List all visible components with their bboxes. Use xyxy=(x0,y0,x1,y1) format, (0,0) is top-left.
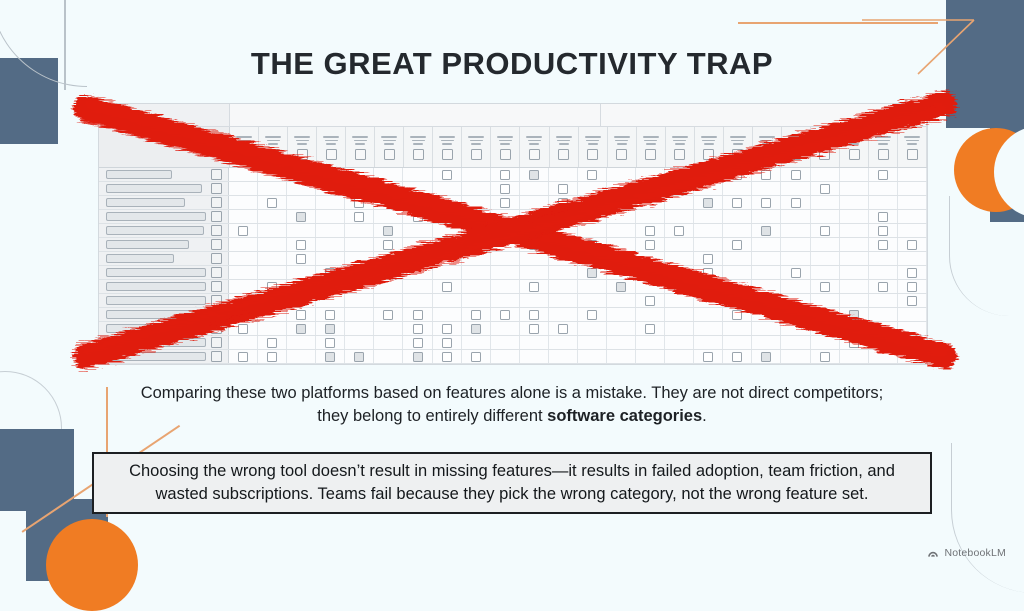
table-row xyxy=(99,168,927,182)
cell-checkbox xyxy=(238,310,248,320)
cell-checkbox xyxy=(558,212,568,222)
column-header-icon xyxy=(703,149,714,160)
table-cell xyxy=(229,350,258,363)
table-cell xyxy=(491,182,520,195)
table-cell xyxy=(520,280,549,293)
cell-checkbox xyxy=(529,282,539,292)
cell-checkbox xyxy=(442,352,452,362)
column-header-icon xyxy=(529,149,540,160)
table-cell xyxy=(752,182,781,195)
table-cell xyxy=(781,210,810,223)
table-group-cell xyxy=(601,104,927,126)
table-cell xyxy=(869,350,898,363)
table-cell xyxy=(781,238,810,251)
table-cell xyxy=(723,210,752,223)
column-header-icon xyxy=(384,149,395,160)
table-cell xyxy=(433,322,462,335)
cell-checkbox xyxy=(383,240,393,250)
table-cell xyxy=(491,210,520,223)
table-cell xyxy=(869,210,898,223)
row-label-placeholder xyxy=(106,310,205,319)
cell-checkbox xyxy=(238,352,248,362)
table-cell xyxy=(258,168,287,181)
row-label-cell xyxy=(99,182,229,195)
table-cell xyxy=(578,322,607,335)
column-header-icon xyxy=(268,149,279,160)
table-cell xyxy=(723,294,752,307)
table-cell xyxy=(840,294,869,307)
table-cell xyxy=(607,280,636,293)
table-cell xyxy=(287,350,316,363)
table-cell xyxy=(229,210,258,223)
cell-checkbox xyxy=(732,352,742,362)
row-label-placeholder xyxy=(106,296,206,305)
table-column-header xyxy=(317,127,346,167)
table-cell xyxy=(258,210,287,223)
table-cell xyxy=(229,224,258,237)
cell-checkbox xyxy=(471,324,481,334)
table-cell xyxy=(374,196,403,209)
table-cell xyxy=(433,182,462,195)
table-cell xyxy=(345,350,374,363)
cell-checkbox xyxy=(296,310,306,320)
row-label-icon xyxy=(211,211,222,222)
table-group-cell xyxy=(230,104,601,126)
table-cell xyxy=(723,350,752,363)
row-label-cell xyxy=(99,266,229,279)
table-cell xyxy=(316,238,345,251)
cell-checkbox xyxy=(703,268,713,278)
table-cell xyxy=(665,224,694,237)
cell-checkbox xyxy=(645,240,655,250)
table-column-header xyxy=(753,127,782,167)
table-header-corner-cell xyxy=(99,127,230,167)
cell-checkbox xyxy=(878,212,888,222)
table-cell xyxy=(462,210,491,223)
cell-checkbox xyxy=(703,254,713,264)
decor-bottom-right-curve xyxy=(951,443,1024,593)
cell-checkbox xyxy=(791,268,801,278)
row-label-icon xyxy=(211,295,222,306)
row-label-cell xyxy=(99,322,229,335)
table-cell xyxy=(636,336,665,349)
row-label-icon xyxy=(211,267,222,278)
table-cell xyxy=(258,196,287,209)
table-column-header xyxy=(724,127,753,167)
cell-checkbox xyxy=(703,170,713,180)
row-label-cell xyxy=(99,294,229,307)
table-cell xyxy=(752,252,781,265)
row-label-cell xyxy=(99,224,229,237)
table-cell xyxy=(752,266,781,279)
table-cell xyxy=(781,224,810,237)
table-cell xyxy=(840,224,869,237)
table-cell xyxy=(462,168,491,181)
table-cell xyxy=(723,238,752,251)
cell-checkbox xyxy=(529,310,539,320)
table-cell xyxy=(316,308,345,321)
cell-checkbox xyxy=(383,310,393,320)
paragraph-text-2: . xyxy=(702,407,707,425)
row-label-icon xyxy=(211,337,222,348)
table-cell xyxy=(578,294,607,307)
cell-checkbox xyxy=(761,198,771,208)
table-row xyxy=(99,308,927,322)
table-cell xyxy=(374,322,403,335)
table-cell xyxy=(374,182,403,195)
table-cell xyxy=(578,266,607,279)
table-column-header xyxy=(811,127,840,167)
row-label-icon xyxy=(211,183,222,194)
table-cell xyxy=(549,210,578,223)
table-cell xyxy=(752,238,781,251)
cell-checkbox xyxy=(442,282,452,292)
table-cell xyxy=(520,294,549,307)
table-cell xyxy=(665,350,694,363)
table-cell xyxy=(723,168,752,181)
table-cell xyxy=(374,280,403,293)
table-cell xyxy=(403,308,432,321)
table-cell xyxy=(374,294,403,307)
table-cell xyxy=(403,182,432,195)
table-column-header xyxy=(782,127,811,167)
table-cell xyxy=(316,196,345,209)
table-cell xyxy=(781,294,810,307)
cell-checkbox xyxy=(849,310,859,320)
table-column-header xyxy=(579,127,608,167)
column-header-icon xyxy=(442,149,453,160)
row-label-icon xyxy=(211,197,222,208)
row-label-cell xyxy=(99,308,229,321)
table-cell xyxy=(811,210,840,223)
table-cell xyxy=(258,182,287,195)
table-cell xyxy=(665,336,694,349)
table-column-header xyxy=(666,127,695,167)
table-cell xyxy=(781,350,810,363)
column-header-icon xyxy=(239,149,250,160)
row-label-placeholder xyxy=(106,226,204,235)
cell-checkbox xyxy=(820,352,830,362)
cell-checkbox xyxy=(907,268,917,278)
table-cell xyxy=(694,350,723,363)
table-cell xyxy=(811,224,840,237)
table-cell xyxy=(403,266,432,279)
table-cell xyxy=(636,196,665,209)
table-cell xyxy=(229,168,258,181)
cell-checkbox xyxy=(761,352,771,362)
table-cell xyxy=(520,350,549,363)
row-label-icon xyxy=(211,253,222,264)
table-cell xyxy=(636,350,665,363)
table-cell xyxy=(694,238,723,251)
table-column-header xyxy=(637,127,666,167)
table-column-header xyxy=(869,127,898,167)
table-cell xyxy=(229,280,258,293)
table-cell xyxy=(665,238,694,251)
column-header-icon xyxy=(878,149,889,160)
table-cell xyxy=(636,210,665,223)
table-cell xyxy=(374,308,403,321)
cell-checkbox xyxy=(471,352,481,362)
table-cell xyxy=(578,350,607,363)
table-cell xyxy=(723,252,752,265)
row-label-placeholder xyxy=(106,198,185,207)
row-label-cell xyxy=(99,350,229,363)
table-cell xyxy=(258,238,287,251)
table-cell xyxy=(345,252,374,265)
table-cell xyxy=(520,322,549,335)
table-cell xyxy=(869,308,898,321)
table-column-header xyxy=(259,127,288,167)
cell-checkbox xyxy=(238,226,248,236)
table-cell xyxy=(840,196,869,209)
table-cell xyxy=(636,266,665,279)
table-row xyxy=(99,280,927,294)
table-cell xyxy=(462,350,491,363)
table-cell xyxy=(462,280,491,293)
cell-checkbox xyxy=(558,324,568,334)
cell-checkbox xyxy=(907,282,917,292)
table-cell xyxy=(781,168,810,181)
table-cell xyxy=(374,168,403,181)
table-cell xyxy=(462,182,491,195)
row-label-cell xyxy=(99,252,229,265)
table-cell xyxy=(229,322,258,335)
table-cell xyxy=(607,224,636,237)
cell-checkbox xyxy=(645,324,655,334)
cell-checkbox xyxy=(529,170,539,180)
table-cell xyxy=(287,322,316,335)
table-cell xyxy=(869,168,898,181)
table-cell xyxy=(665,322,694,335)
table-cell xyxy=(578,168,607,181)
table-cell xyxy=(811,168,840,181)
table-cell xyxy=(433,196,462,209)
table-cell xyxy=(520,238,549,251)
table-cell xyxy=(345,266,374,279)
table-cell xyxy=(578,224,607,237)
table-cell xyxy=(869,280,898,293)
table-cell xyxy=(578,238,607,251)
table-cell xyxy=(811,252,840,265)
table-cell xyxy=(287,308,316,321)
cell-checkbox xyxy=(500,184,510,194)
table-cell xyxy=(287,210,316,223)
row-label-cell xyxy=(99,168,229,181)
cell-checkbox xyxy=(732,296,742,306)
table-cell xyxy=(636,322,665,335)
table-cell xyxy=(665,182,694,195)
table-cell xyxy=(316,168,345,181)
table-cell xyxy=(578,336,607,349)
table-cell xyxy=(462,322,491,335)
table-cell xyxy=(840,266,869,279)
table-cell xyxy=(462,196,491,209)
column-header-icon xyxy=(587,149,598,160)
cell-checkbox xyxy=(500,198,510,208)
table-row xyxy=(99,224,927,238)
row-label-cell xyxy=(99,336,229,349)
cell-checkbox xyxy=(267,198,277,208)
table-cell xyxy=(694,308,723,321)
cell-checkbox xyxy=(703,352,713,362)
table-cell xyxy=(636,280,665,293)
table-column-header xyxy=(520,127,549,167)
watermark: NotebookLM xyxy=(927,547,1006,559)
table-cell xyxy=(665,196,694,209)
table-cell xyxy=(578,308,607,321)
column-header-icon xyxy=(819,149,830,160)
table-cell xyxy=(636,308,665,321)
decor-bottom-left-rectangle xyxy=(0,429,74,511)
table-cell xyxy=(287,252,316,265)
table-cell xyxy=(811,294,840,307)
cell-checkbox xyxy=(645,296,655,306)
table-cell xyxy=(287,224,316,237)
table-row xyxy=(99,266,927,280)
table-cell xyxy=(491,196,520,209)
table-cell xyxy=(898,266,927,279)
table-cell xyxy=(229,182,258,195)
table-cell xyxy=(840,308,869,321)
column-header-icon xyxy=(326,149,337,160)
table-cell xyxy=(374,224,403,237)
cell-checkbox xyxy=(558,184,568,194)
cell-checkbox xyxy=(471,310,481,320)
table-row xyxy=(99,182,927,196)
cell-checkbox xyxy=(500,170,510,180)
cell-checkbox xyxy=(674,184,684,194)
cell-checkbox xyxy=(442,324,452,334)
cell-checkbox xyxy=(820,226,830,236)
table-cell xyxy=(607,322,636,335)
table-cell xyxy=(549,294,578,307)
table-cell xyxy=(433,350,462,363)
table-cell xyxy=(345,168,374,181)
table-cell xyxy=(811,336,840,349)
table-cell xyxy=(462,294,491,307)
column-header-icon xyxy=(849,149,860,160)
row-label-icon xyxy=(211,309,222,320)
cell-checkbox xyxy=(907,240,917,250)
table-cell xyxy=(694,294,723,307)
table-cell xyxy=(549,336,578,349)
table-cell xyxy=(723,224,752,237)
decor-top-right-circle-mask xyxy=(994,126,1024,218)
table-cell xyxy=(636,224,665,237)
table-cell xyxy=(694,336,723,349)
table-cell xyxy=(374,210,403,223)
decor-top-right-line xyxy=(738,22,938,24)
table-cell xyxy=(811,308,840,321)
table-group-cell xyxy=(99,104,230,126)
table-cell xyxy=(723,322,752,335)
cell-checkbox xyxy=(674,226,684,236)
table-cell xyxy=(491,252,520,265)
table-cell xyxy=(316,280,345,293)
table-cell xyxy=(520,196,549,209)
table-cell xyxy=(840,182,869,195)
table-cell xyxy=(898,238,927,251)
cell-checkbox xyxy=(587,170,597,180)
table-column-header xyxy=(462,127,491,167)
table-cell xyxy=(345,294,374,307)
decor-bottom-left-circle-outline xyxy=(0,371,62,485)
cell-checkbox xyxy=(849,324,859,334)
column-header-icon xyxy=(471,149,482,160)
table-cell xyxy=(694,168,723,181)
table-row xyxy=(99,210,927,224)
table-cell xyxy=(665,168,694,181)
cell-checkbox xyxy=(238,324,248,334)
table-cell xyxy=(752,196,781,209)
table-row xyxy=(99,322,927,336)
table-cell xyxy=(374,266,403,279)
table-cell xyxy=(374,252,403,265)
column-header-icon xyxy=(500,149,511,160)
table-cell xyxy=(607,182,636,195)
table-cell xyxy=(316,294,345,307)
table-cell xyxy=(374,238,403,251)
table-cell xyxy=(869,182,898,195)
row-label-icon xyxy=(211,351,222,362)
cell-checkbox xyxy=(907,296,917,306)
table-cell xyxy=(520,182,549,195)
cell-checkbox xyxy=(529,212,539,222)
table-cell xyxy=(898,336,927,349)
table-cell xyxy=(403,280,432,293)
table-cell xyxy=(665,266,694,279)
decor-top-right-curve xyxy=(949,196,1010,316)
paragraph-emphasis: software categories xyxy=(547,407,702,425)
cell-checkbox xyxy=(267,338,277,348)
table-cell xyxy=(898,322,927,335)
table-cell xyxy=(287,238,316,251)
table-cell xyxy=(491,168,520,181)
table-cell xyxy=(258,294,287,307)
table-cell xyxy=(549,182,578,195)
table-cell xyxy=(869,336,898,349)
table-cell xyxy=(781,266,810,279)
table-cell xyxy=(549,196,578,209)
column-header-icon xyxy=(645,149,656,160)
table-cell xyxy=(287,196,316,209)
column-header-icon xyxy=(761,149,772,160)
table-cell xyxy=(607,168,636,181)
table-cell xyxy=(316,336,345,349)
table-cell xyxy=(811,350,840,363)
table-cell xyxy=(403,294,432,307)
cell-checkbox xyxy=(296,282,306,292)
cell-checkbox xyxy=(587,240,597,250)
table-cell xyxy=(752,280,781,293)
table-cell xyxy=(462,336,491,349)
table-cell xyxy=(287,182,316,195)
row-label-cell xyxy=(99,196,229,209)
table-cell xyxy=(752,210,781,223)
table-cell xyxy=(549,308,578,321)
table-cell xyxy=(316,322,345,335)
table-cell xyxy=(665,210,694,223)
table-cell xyxy=(258,322,287,335)
table-cell xyxy=(607,266,636,279)
cell-checkbox xyxy=(791,170,801,180)
table-cell xyxy=(781,182,810,195)
table-cell xyxy=(694,280,723,293)
watermark-label: NotebookLM xyxy=(944,547,1006,559)
table-cell xyxy=(636,252,665,265)
table-cell xyxy=(345,308,374,321)
